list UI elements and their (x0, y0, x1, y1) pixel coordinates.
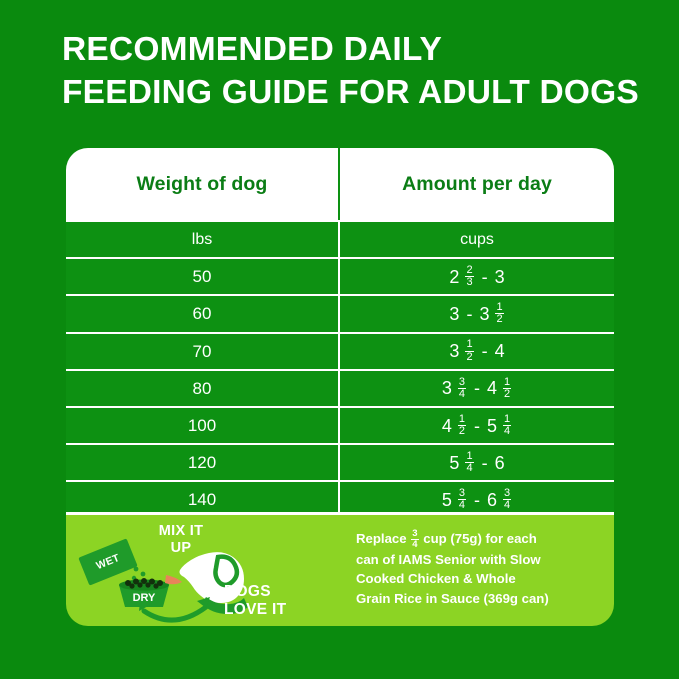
table-row: 80334-412 (66, 369, 614, 406)
dogs-love-it-text: DOGS LOVE IT (224, 583, 334, 618)
column-header-amount-label: Amount per day (402, 173, 552, 196)
whole-number: 5 (449, 454, 459, 472)
fraction-numerator: 1 (503, 377, 511, 388)
fraction-numerator: 1 (458, 414, 466, 425)
range-dash: - (472, 491, 482, 509)
footer-note-fraction-numerator: 3 (411, 529, 418, 539)
footer-note-line-1-pre: Replace (356, 531, 407, 546)
column-header-amount: Amount per day (338, 148, 614, 220)
whole-number: 2 (449, 268, 459, 286)
fraction-denominator: 4 (458, 388, 466, 400)
dogs-love-it-line-2: LOVE IT (224, 601, 286, 618)
cell-amount: 412-514 (338, 408, 614, 443)
range-dash: - (480, 342, 490, 360)
whole-number: 4 (495, 342, 505, 360)
whole-number: 3 (449, 342, 459, 360)
footer-note-fraction-denominator: 4 (411, 539, 418, 550)
cell-weight-value: 140 (188, 491, 216, 508)
whole-number: 4 (487, 379, 497, 397)
fraction-denominator: 2 (495, 313, 503, 325)
range-dash: - (464, 305, 474, 323)
table-row: 100412-514 (66, 406, 614, 443)
whole-number: 6 (487, 491, 497, 509)
column-header-weight: Weight of dog (66, 148, 338, 220)
cell-amount-value: 312-4 (449, 339, 504, 362)
fraction: 12 (465, 339, 473, 362)
units-cell-weight: lbs (66, 222, 338, 257)
cell-amount: 223-3 (338, 259, 614, 294)
units-label-lbs: lbs (192, 232, 212, 248)
fraction: 14 (465, 451, 473, 474)
range-dash: - (472, 417, 482, 435)
cell-amount-value: 534-634 (442, 488, 512, 511)
fraction-denominator: 4 (503, 499, 511, 511)
units-cell-amount: cups (338, 222, 614, 257)
feeding-guide-page: RECOMMENDED DAILY FEEDING GUIDE FOR ADUL… (0, 0, 679, 679)
fraction-numerator: 1 (495, 302, 503, 313)
cell-amount-value: 223-3 (449, 265, 504, 288)
range-dash: - (472, 379, 482, 397)
cell-weight: 80 (66, 371, 338, 406)
cycle-arrow-icon (144, 607, 206, 620)
cell-weight-value: 50 (193, 268, 212, 285)
whole-number: 3 (479, 305, 489, 323)
page-title-line-1: RECOMMENDED DAILY (62, 28, 662, 71)
cell-amount-value: 3-312 (449, 302, 504, 325)
table-row: 603-312 (66, 294, 614, 331)
whole-number: 6 (495, 454, 505, 472)
cell-amount-value: 412-514 (442, 414, 512, 437)
fraction-denominator: 4 (465, 462, 473, 474)
cell-amount: 514-6 (338, 445, 614, 480)
fraction: 23 (465, 265, 473, 288)
dry-label-text: DRY (133, 592, 156, 604)
column-header-weight-label: Weight of dog (137, 173, 268, 196)
tongue-icon (165, 575, 182, 584)
table-header-row: Weight of dog Amount per day (66, 148, 614, 220)
whole-number: 3 (442, 379, 452, 397)
cell-weight-value: 120 (188, 454, 216, 471)
table-row: 70312-4 (66, 332, 614, 369)
footer-note-line-1: Replace 3 4 cup (75g) for each (356, 529, 602, 550)
whole-number: 3 (449, 305, 459, 323)
dogs-love-it-line-1: DOGS (224, 583, 271, 600)
fraction: 12 (495, 302, 503, 325)
cell-weight: 60 (66, 296, 338, 331)
fraction: 12 (458, 414, 466, 437)
fraction-denominator: 2 (458, 425, 466, 437)
footer-note: Replace 3 4 cup (75g) for each can of IA… (338, 515, 614, 626)
table-row: 50223-3 (66, 257, 614, 294)
cell-weight-value: 80 (193, 380, 212, 397)
fraction-denominator: 3 (465, 276, 473, 288)
fraction-denominator: 4 (503, 425, 511, 437)
range-dash: - (480, 268, 490, 286)
footer-note-text: Replace 3 4 cup (75g) for each can of IA… (356, 529, 602, 608)
fraction-denominator: 4 (458, 499, 466, 511)
fraction-numerator: 3 (503, 488, 511, 499)
table-body: 50223-3603-31270312-480334-412100412-514… (66, 257, 614, 517)
whole-number: 5 (442, 491, 452, 509)
cell-amount: 334-412 (338, 371, 614, 406)
fraction-denominator: 2 (503, 388, 511, 400)
footer-note-line-4: Grain Rice in Sauce (369g can) (356, 589, 602, 609)
whole-number: 3 (495, 268, 505, 286)
page-title-line-2: FEEDING GUIDE FOR ADULT DOGS (62, 71, 662, 114)
footer-note-fraction: 3 4 (411, 529, 418, 549)
range-dash: - (480, 454, 490, 472)
fraction: 12 (503, 377, 511, 400)
footer-note-line-3: Cooked Chicken & Whole (356, 569, 602, 589)
fraction-numerator: 1 (465, 339, 473, 350)
fraction-numerator: 1 (465, 451, 473, 462)
cell-weight: 120 (66, 445, 338, 480)
fraction: 34 (503, 488, 511, 511)
cell-weight-value: 60 (193, 305, 212, 322)
whole-number: 5 (487, 417, 497, 435)
table-row: 120514-6 (66, 443, 614, 480)
mix-it-up-graphic: MIX IT UP WET (66, 515, 338, 626)
whole-number: 4 (442, 417, 452, 435)
cell-amount: 3-312 (338, 296, 614, 331)
fraction: 34 (458, 488, 466, 511)
cell-amount: 312-4 (338, 334, 614, 369)
fraction-numerator: 3 (458, 377, 466, 388)
fraction: 14 (503, 414, 511, 437)
table-units-row: lbs cups (66, 220, 614, 257)
fraction-denominator: 2 (465, 351, 473, 363)
cell-weight-value: 70 (193, 343, 212, 360)
units-label-cups: cups (460, 232, 494, 248)
fraction-numerator: 2 (465, 265, 473, 276)
table-footer-panel: MIX IT UP WET (66, 512, 614, 626)
feeding-table: Weight of dog Amount per day lbs cups 50… (66, 148, 614, 626)
cell-weight: 70 (66, 334, 338, 369)
fraction: 34 (458, 377, 466, 400)
page-title: RECOMMENDED DAILY FEEDING GUIDE FOR ADUL… (62, 28, 662, 114)
cell-weight: 50 (66, 259, 338, 294)
cell-amount-value: 334-412 (442, 377, 512, 400)
cell-amount-value: 514-6 (449, 451, 504, 474)
footer-note-line-1-post: cup (75g) for each (423, 531, 537, 546)
fraction-numerator: 3 (458, 488, 466, 499)
footer-note-line-2: can of IAMS Senior with Slow (356, 550, 602, 570)
cell-weight: 100 (66, 408, 338, 443)
fraction-numerator: 1 (503, 414, 511, 425)
cell-weight-value: 100 (188, 417, 216, 434)
